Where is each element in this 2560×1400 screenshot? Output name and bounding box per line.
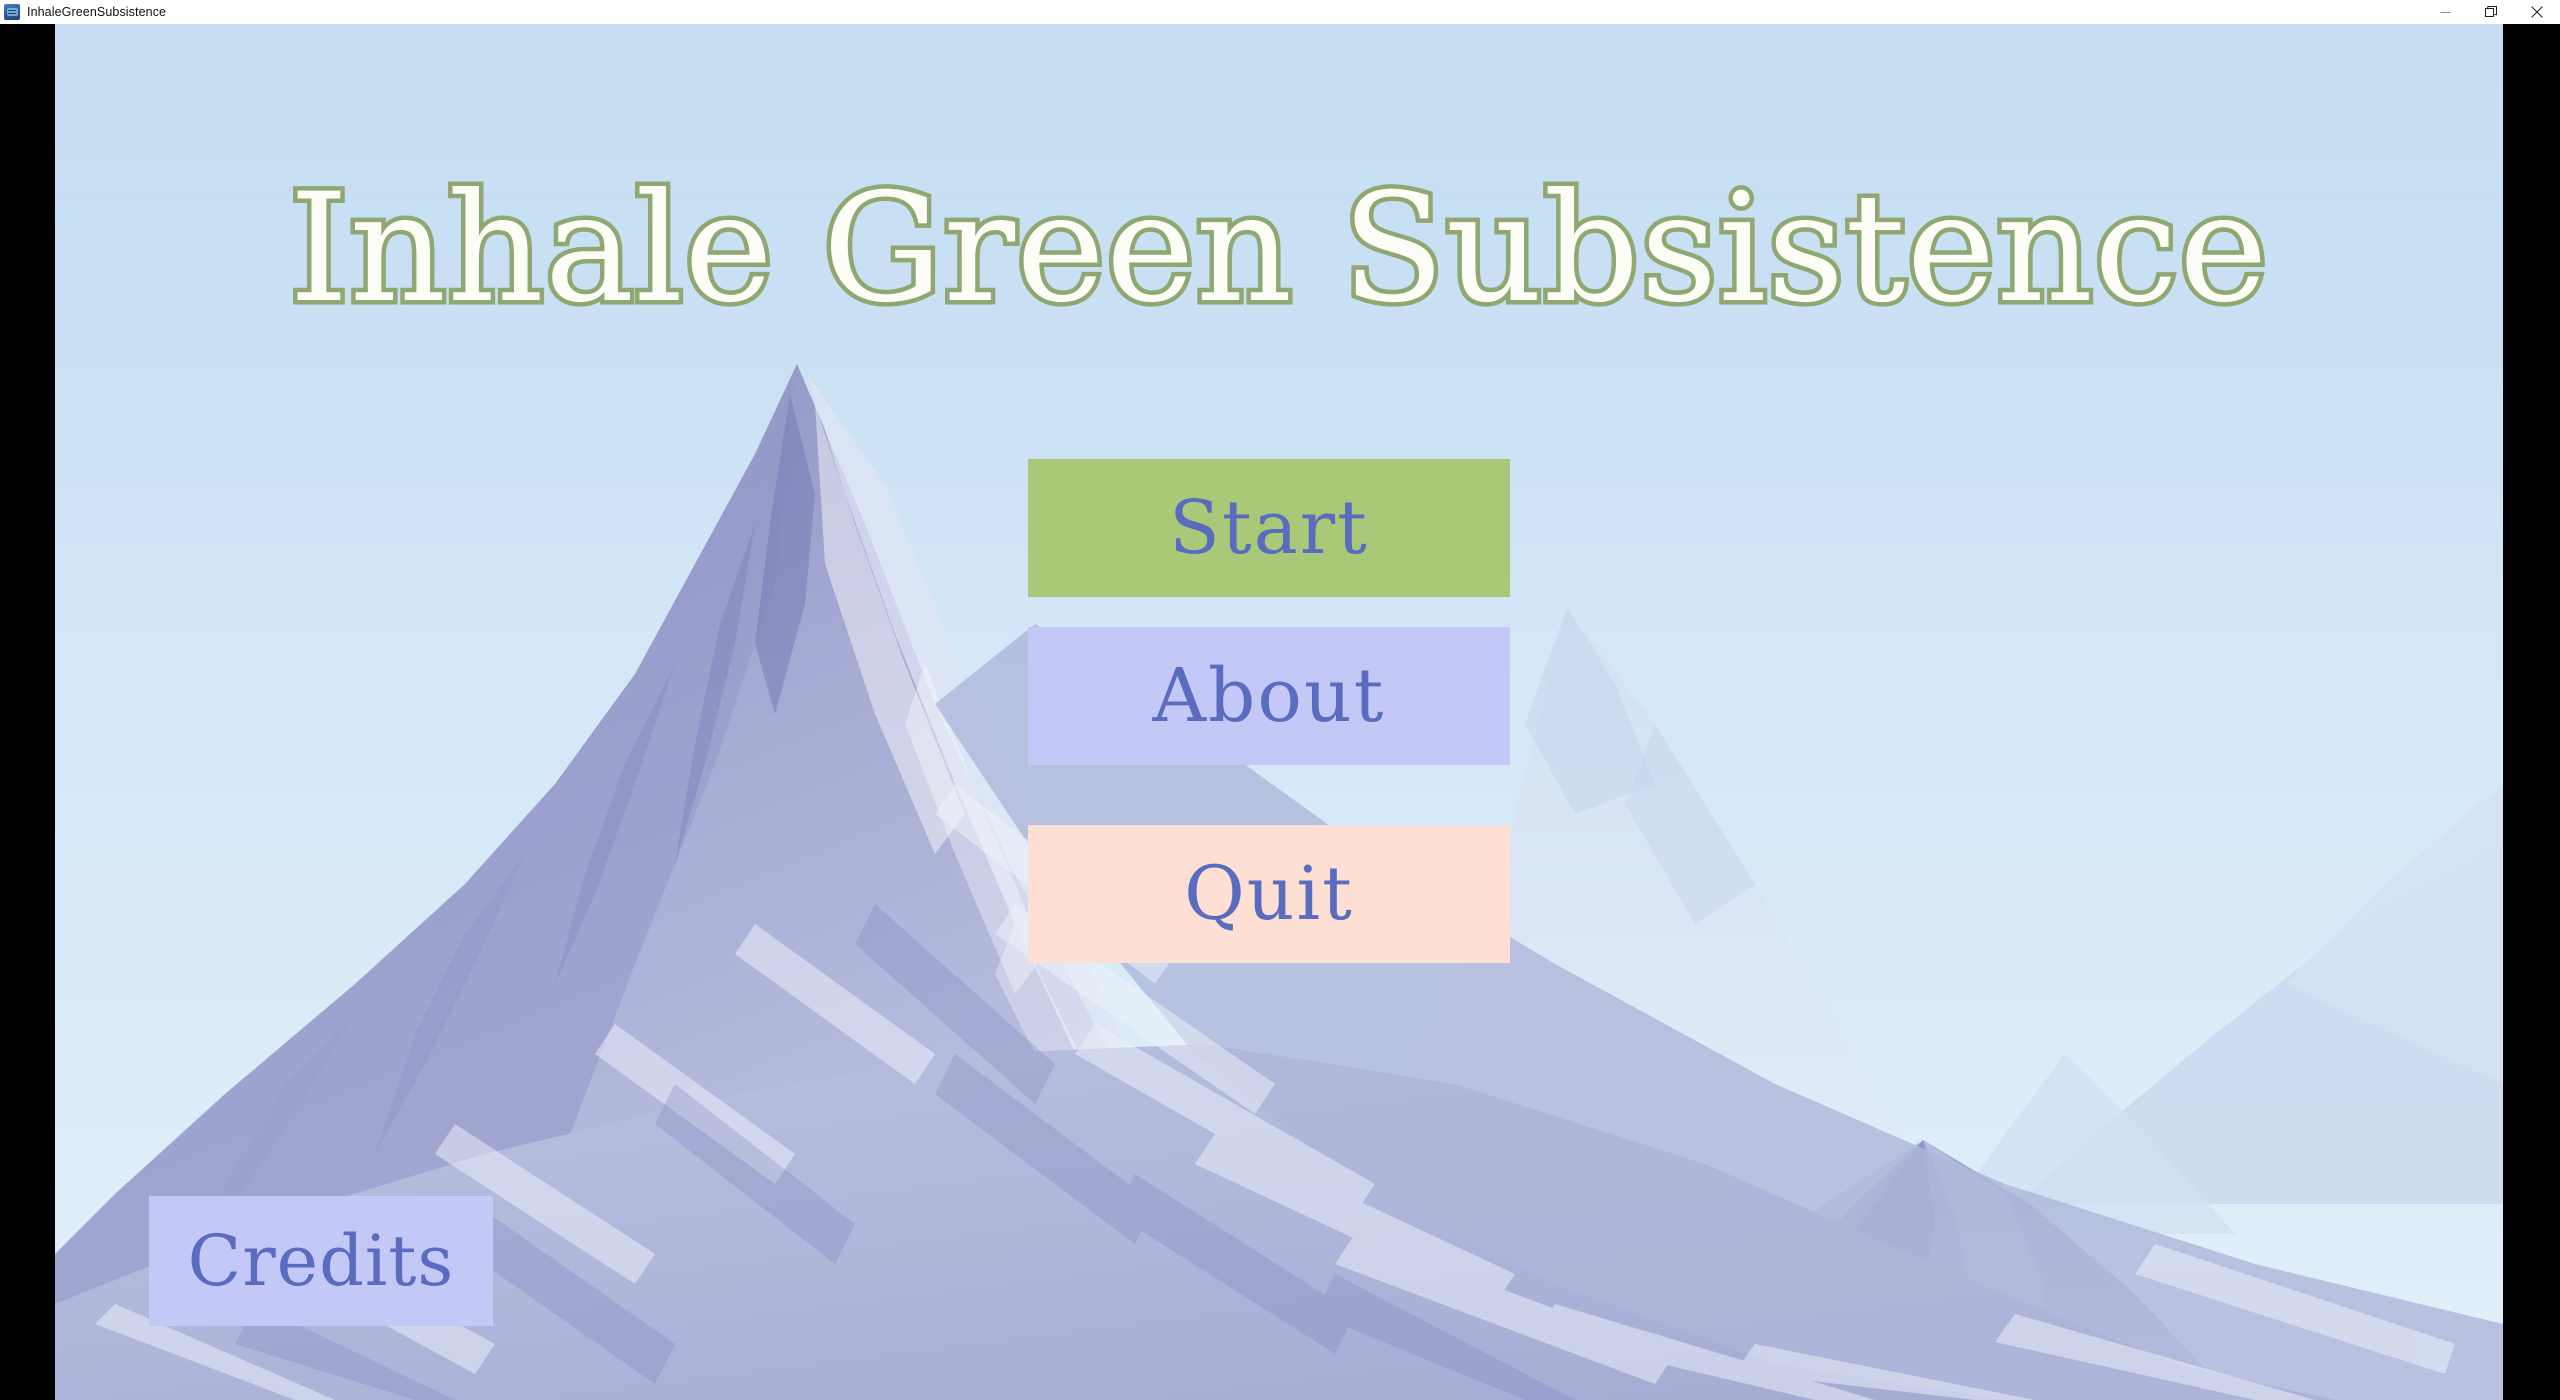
close-icon[interactable]: [2514, 0, 2560, 24]
minimize-icon[interactable]: [2422, 0, 2468, 24]
window-titlebar: InhaleGreenSubsistence: [0, 0, 2560, 24]
app-window: InhaleGreenSubsistence: [0, 0, 2560, 1400]
app-icon: [4, 4, 20, 20]
credits-button[interactable]: Credits: [149, 1196, 493, 1326]
window-controls: [2422, 0, 2560, 24]
game-canvas: Inhale Green Subsistence Start About Qui…: [55, 24, 2503, 1400]
about-button[interactable]: About: [1028, 627, 1510, 765]
main-menu: Start About Quit: [1028, 459, 1510, 963]
quit-button[interactable]: Quit: [1028, 825, 1510, 963]
restore-icon[interactable]: [2468, 0, 2514, 24]
game-title: Inhale Green Subsistence: [55, 174, 2503, 324]
window-title: InhaleGreenSubsistence: [27, 5, 166, 19]
start-button[interactable]: Start: [1028, 459, 1510, 597]
